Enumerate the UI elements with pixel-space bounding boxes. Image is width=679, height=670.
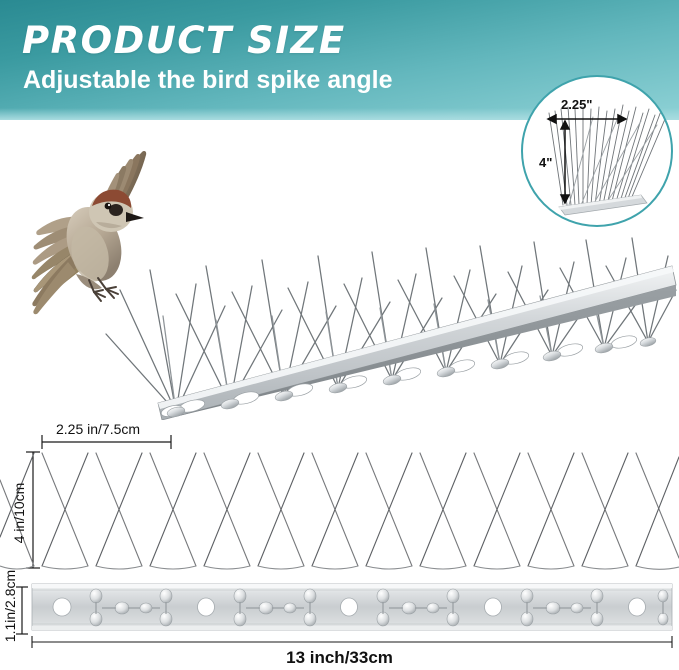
label-spike-height: 4 in/10cm (11, 468, 27, 558)
dimension-line-length (32, 636, 672, 648)
mounting-bar (158, 266, 676, 420)
label-base-width: 1.1in/2.8cm (2, 568, 18, 644)
page-subtitle: Adjustable the bird spike angle (23, 66, 393, 94)
product-size-infographic: PRODUCT SIZE Adjustable the bird spike a… (0, 0, 679, 670)
inset-label-width: 2.25" (561, 97, 592, 112)
inset-arrow-vertical (561, 121, 569, 203)
bird-spike-strip-side-view (0, 420, 679, 580)
label-spike-width: 2.25 in/7.5cm (56, 421, 140, 437)
dimension-line-width (42, 435, 171, 449)
inset-label-height: 4" (539, 155, 552, 170)
zoom-detail-circle: 2.25" 4" (521, 75, 673, 227)
page-title: PRODUCT SIZE (22, 21, 346, 61)
label-total-length: 13 inch/33cm (0, 648, 679, 668)
inset-arrow-horizontal (548, 115, 626, 123)
